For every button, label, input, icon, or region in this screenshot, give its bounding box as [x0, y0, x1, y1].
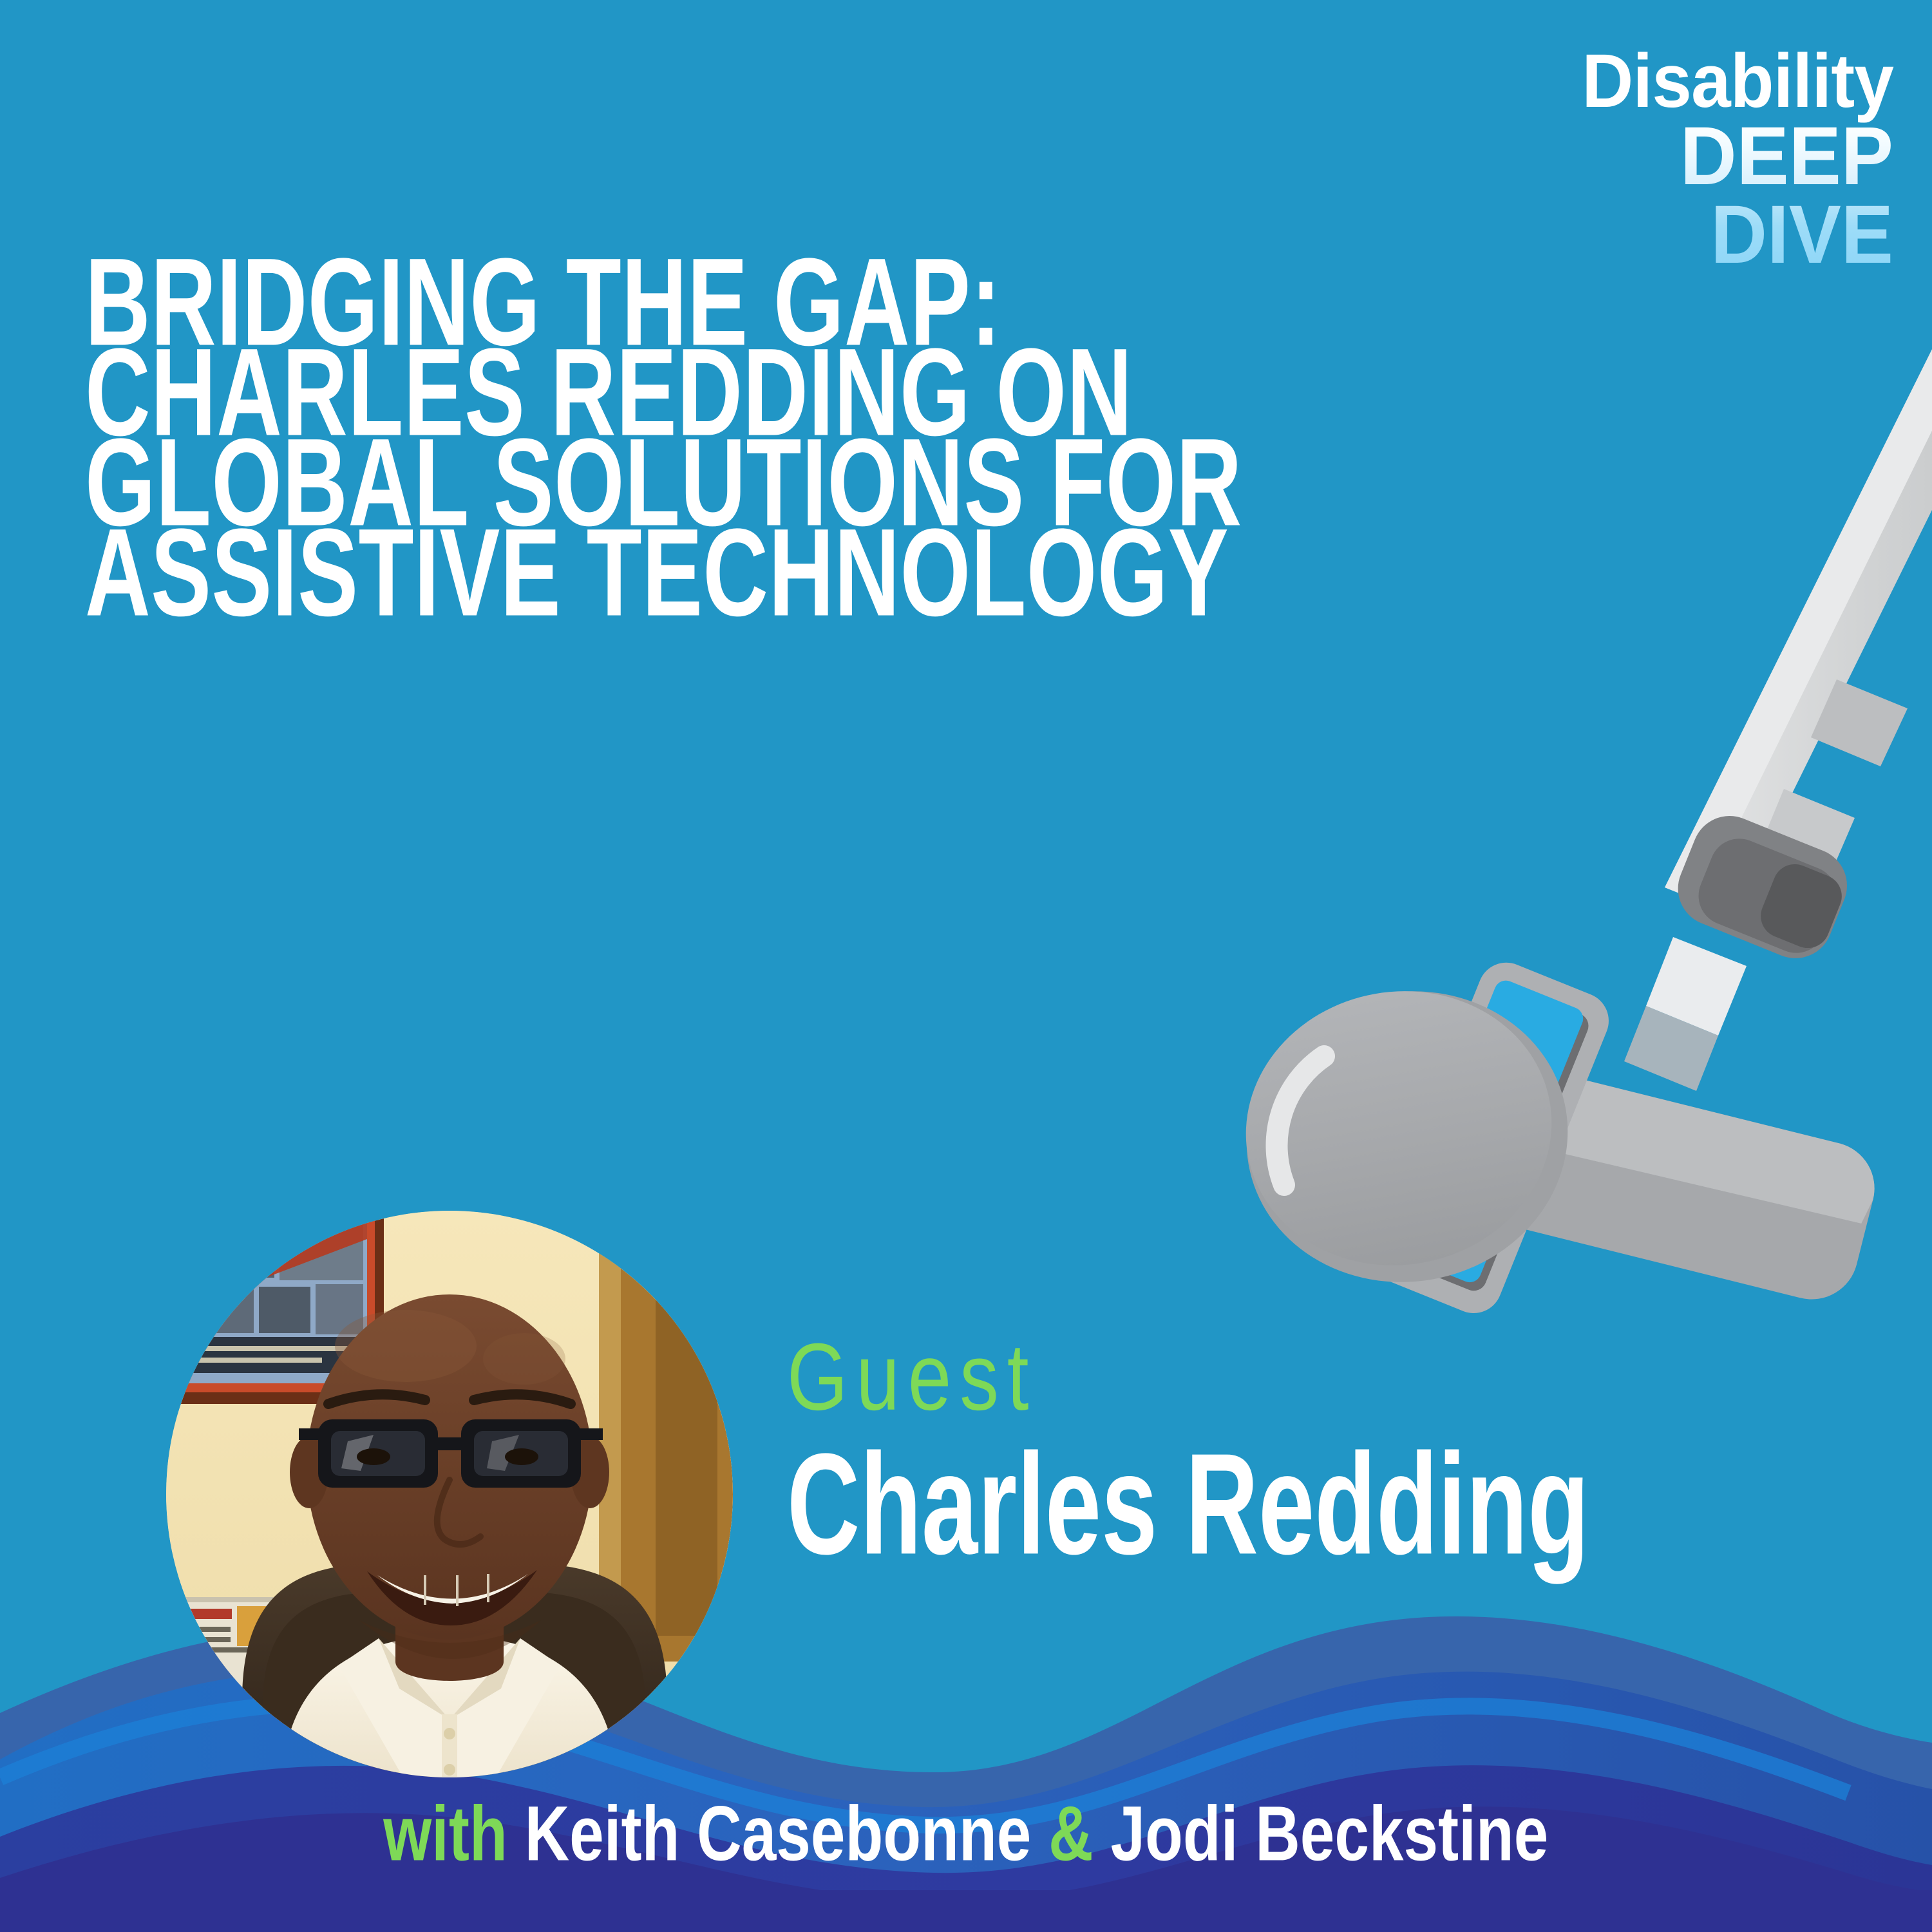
guest-name: Charles Redding	[787, 1431, 1653, 1578]
hosts-ampersand: &	[1048, 1790, 1094, 1877]
logo-line-dive: DIVE	[1526, 196, 1893, 274]
host-name-1: Keith Casebonne	[525, 1790, 1032, 1877]
hosts-with-word: with	[383, 1790, 507, 1877]
guest-label: Guest	[787, 1327, 1783, 1428]
host-name-2: Jodi Beckstine	[1111, 1790, 1549, 1877]
mic-drf-badge: DRF	[1349, 948, 1617, 1321]
mic-body	[1405, 1007, 1886, 1340]
mic-joint-clamp	[1667, 805, 1858, 970]
mic-connector	[1624, 937, 1747, 1091]
episode-title: BRIDGING THE GAP: CHARLES REDDING ON GLO…	[85, 256, 1425, 611]
guest-avatar-photo	[166, 1211, 733, 1777]
guest-info-block: Guest Charles Redding	[787, 1327, 1869, 1560]
mic-head	[1224, 966, 1591, 1307]
logo-line-deep: DEEP	[1526, 117, 1893, 196]
hosts-line: with Keith Casebonne & Jodi Beckstine	[0, 1801, 1932, 1873]
title-line-4: ASSISTIVE TECHNOLOGY	[85, 527, 1157, 619]
wave-base-fill	[0, 1890, 1932, 1932]
podcast-logo: Disability DEEP DIVE	[1507, 45, 1893, 274]
podcast-cover-art: DRF Disability DEEP DIVE BRIDGING THE GA…	[0, 0, 1932, 1932]
drf-badge-text: DRF	[1374, 1001, 1555, 1244]
logo-line-disability: Disability	[1530, 45, 1893, 117]
